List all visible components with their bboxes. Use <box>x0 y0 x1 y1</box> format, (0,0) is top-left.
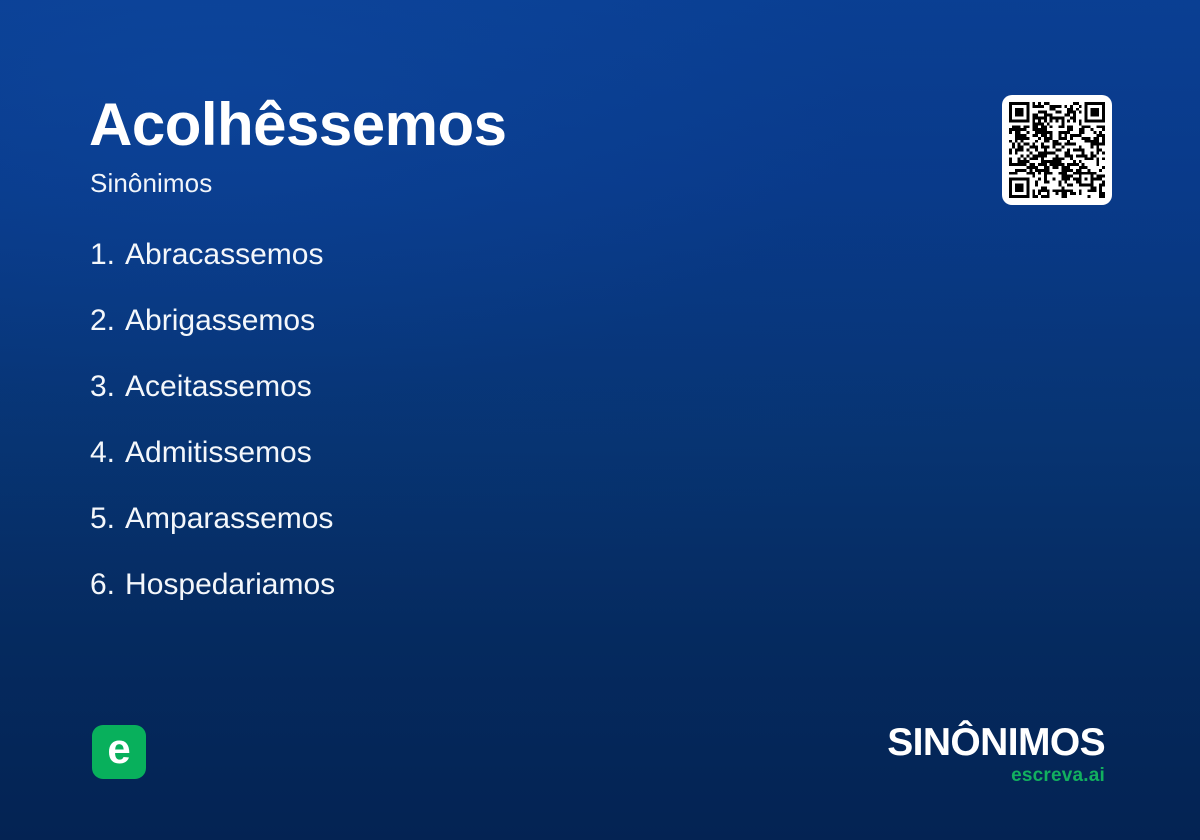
qr-code-icon[interactable] <box>1002 95 1112 205</box>
page-subtitle: Sinônimos <box>90 168 212 199</box>
list-item-index: 2. <box>90 304 115 338</box>
list-item: 4. Admitissemos <box>90 436 335 502</box>
list-item-word: Hospedariamos <box>125 568 335 602</box>
list-item-index: 4. <box>90 436 115 470</box>
brand-logo[interactable]: SINÔNIMOS escreva.ai <box>887 723 1105 785</box>
list-item: 2. Abrigassemos <box>90 304 335 370</box>
list-item-word: Abracassemos <box>125 238 323 272</box>
list-item: 5. Amparassemos <box>90 502 335 568</box>
list-item-word: Abrigassemos <box>125 304 315 338</box>
brand-domain: escreva.ai <box>887 766 1105 785</box>
brand-name: SINÔNIMOS <box>887 723 1105 762</box>
escreva-e-letter: e <box>107 728 130 770</box>
list-item-index: 1. <box>90 238 115 272</box>
list-item-word: Admitissemos <box>125 436 312 470</box>
list-item-word: Aceitassemos <box>125 370 312 404</box>
page-title: Acolhêssemos <box>89 93 507 156</box>
list-item-index: 5. <box>90 502 115 536</box>
list-item: 6. Hospedariamos <box>90 568 335 634</box>
list-item: 3. Aceitassemos <box>90 370 335 436</box>
list-item-index: 6. <box>90 568 115 602</box>
list-item: 1. Abracassemos <box>90 238 335 304</box>
synonyms-list: 1. Abracassemos 2. Abrigassemos 3. Aceit… <box>90 238 335 634</box>
escreva-e-logo-icon[interactable]: e <box>92 725 146 779</box>
list-item-index: 3. <box>90 370 115 404</box>
qr-code-canvas <box>1009 102 1105 198</box>
synonyms-card: Acolhêssemos Sinônimos 1. Abracassemos 2… <box>0 0 1200 840</box>
list-item-word: Amparassemos <box>125 502 333 536</box>
